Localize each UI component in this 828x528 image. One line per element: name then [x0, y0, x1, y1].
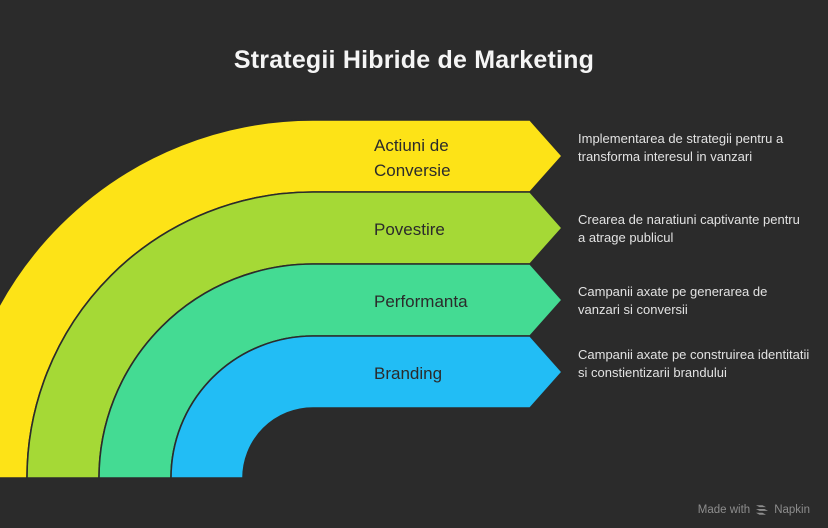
watermark-brand: Napkin: [774, 504, 810, 516]
band-label-2: Povestire: [374, 217, 445, 242]
watermark-prefix: Made with: [698, 504, 750, 516]
band-label-3: Performanta: [374, 289, 468, 314]
band-description-1: Implementarea de strategii pentru a tran…: [578, 130, 810, 166]
napkin-chevrons-icon: [755, 504, 769, 516]
band-label-1: Actiuni de Conversie: [374, 133, 451, 183]
arc-funnel-graphic: [0, 0, 828, 528]
diagram-canvas: Strategii Hibride de Marketing Actiuni d…: [0, 0, 828, 528]
band-description-4: Campanii axate pe construirea identitati…: [578, 346, 810, 382]
band-shapes: [0, 120, 562, 478]
band-label-4: Branding: [374, 361, 442, 386]
band-description-2: Crearea de naratiuni captivante pentru a…: [578, 211, 810, 247]
napkin-watermark: Made with Napkin: [698, 504, 810, 516]
band-description-3: Campanii axate pe generarea de vanzari s…: [578, 283, 810, 319]
